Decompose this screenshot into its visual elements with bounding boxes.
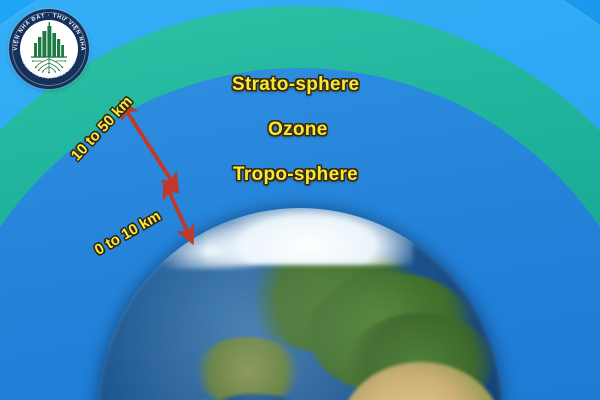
logo-ring-icon: THƯ VIỆN NHÀ ĐẤT · THƯ VIỆN NHÀ ĐẤT www.… [9,9,89,89]
diagram-canvas: Strato-sphere Ozone Tropo-sphere 10 to 5… [0,0,600,400]
label-ozone: Ozone [268,119,328,141]
label-stratosphere: Strato-sphere [232,74,359,96]
label-troposphere: Tropo-sphere [233,164,358,186]
watermark-logo: THƯ VIỆN NHÀ ĐẤT · THƯ VIỆN NHÀ ĐẤT www.… [9,9,89,89]
